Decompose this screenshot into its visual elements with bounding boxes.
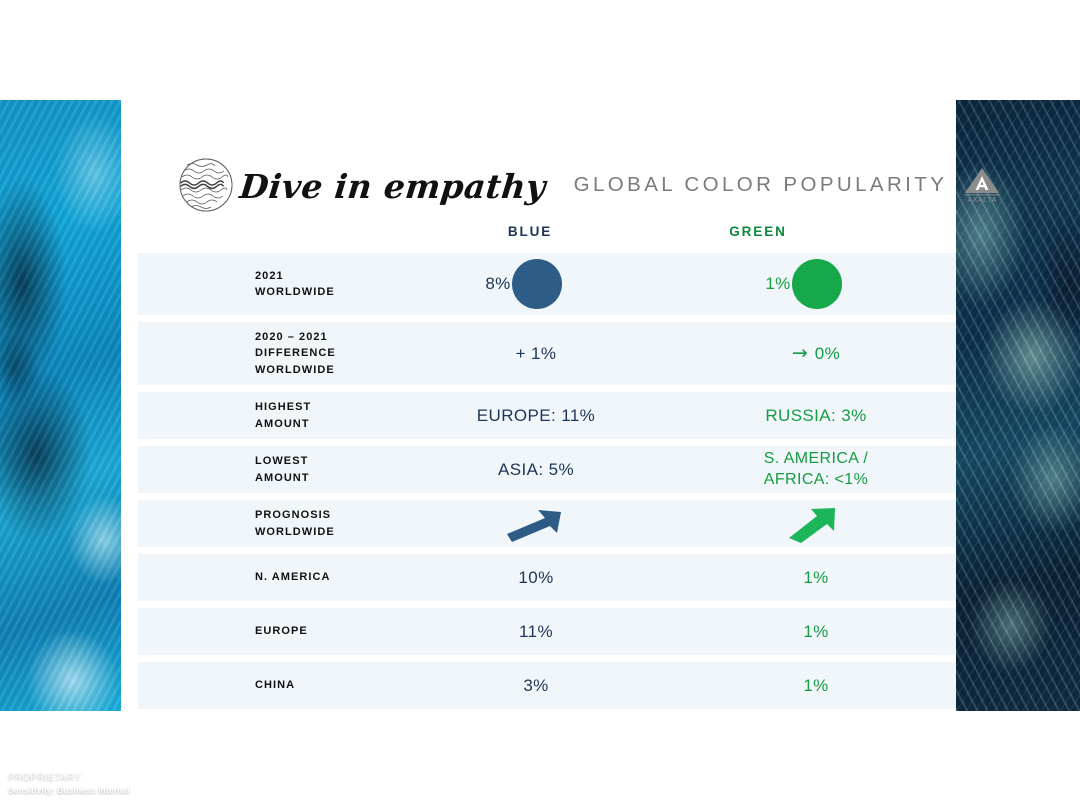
row-blue-value: ASIA: 5% — [498, 459, 574, 481]
blue-swatch-circle — [512, 259, 562, 309]
row-green-value: 0% — [815, 343, 840, 365]
row-blue-cell: + 1% — [396, 343, 676, 365]
row-label: HIGHEST AMOUNT — [138, 399, 396, 432]
row-green-cell: RUSSIA: 3% — [676, 405, 956, 427]
footer-classification: PROPRIETARY Sensitivity: Business Intern… — [8, 772, 130, 796]
table-row: N. AMERICA 10% 1% — [138, 554, 956, 601]
row-blue-cell: EUROPE: 11% — [396, 405, 676, 427]
row-green-value: 1% — [803, 675, 828, 697]
row-green-value: S. AMERICA / AFRICA: <1% — [764, 449, 868, 490]
green-swatch-circle — [792, 259, 842, 309]
row-blue-value: + 1% — [516, 343, 557, 365]
row-green-cell: 1% — [676, 273, 956, 295]
row-blue-cell: 10% — [396, 567, 676, 589]
row-label: 2020 – 2021 DIFFERENCE WORLDWIDE — [138, 329, 396, 379]
row-green-value: 1% — [803, 621, 828, 643]
row-label: CHINA — [138, 677, 396, 694]
row-label: EUROPE — [138, 623, 396, 640]
row-green-value: 1% — [803, 567, 828, 589]
column-header-green: GREEN — [688, 224, 828, 239]
row-green-value: 1% — [765, 273, 790, 295]
row-blue-cell: ASIA: 5% — [396, 459, 676, 481]
table-row: PROGNOSIS WORLDWIDE — [138, 500, 956, 547]
column-headers: BLUE GREEN — [138, 224, 956, 250]
table-row: LOWEST AMOUNT ASIA: 5% S. AMERICA / AFRI… — [138, 446, 956, 493]
row-green-value: RUSSIA: 3% — [765, 405, 866, 427]
arrow-right-icon: → — [792, 344, 808, 363]
table-row: EUROPE 11% 1% — [138, 608, 956, 655]
row-blue-cell: 11% — [396, 621, 676, 643]
row-blue-value: 3% — [523, 675, 548, 697]
row-label: N. AMERICA — [138, 569, 396, 586]
sensitivity-label: Sensitivity: Business Internal — [8, 785, 130, 796]
svg-text:AXALTA: AXALTA — [968, 195, 998, 204]
proprietary-label: PROPRIETARY — [8, 772, 130, 785]
row-green-cell: S. AMERICA / AFRICA: <1% — [676, 449, 956, 490]
row-label: 2021 WORLDWIDE — [138, 268, 396, 301]
slide-canvas: PROPRIETARY Sensitivity: Business Intern… — [0, 0, 1080, 810]
row-blue-value: EUROPE: 11% — [477, 405, 595, 427]
script-title: Dive in empathy — [238, 167, 548, 206]
wave-circle-icon — [178, 157, 234, 213]
row-blue-cell: 8% — [396, 273, 676, 295]
table-row: 2021 WORLDWIDE 8% 1% — [138, 253, 956, 315]
page-subtitle: GLOBAL COLOR POPULARITY — [574, 173, 948, 197]
popularity-table: 2021 WORLDWIDE 8% 1% 2020 – 2021 DIFFERE… — [138, 253, 956, 716]
row-green-cell: 1% — [676, 621, 956, 643]
row-green-cell: 1% — [676, 567, 956, 589]
row-blue-value: 8% — [485, 273, 510, 295]
table-row: HIGHEST AMOUNT EUROPE: 11% RUSSIA: 3% — [138, 392, 956, 439]
left-ocean-image — [0, 100, 121, 711]
table-row: CHINA 3% 1% — [138, 662, 956, 709]
arrow-up-right-navy-icon — [505, 504, 567, 544]
axalta-logo: AXALTA — [961, 166, 1003, 204]
column-header-blue: BLUE — [460, 224, 600, 239]
arrow-up-right-green-icon — [785, 504, 847, 544]
row-label: LOWEST AMOUNT — [138, 453, 396, 486]
table-row: 2020 – 2021 DIFFERENCE WORLDWIDE + 1% → … — [138, 322, 956, 385]
row-green-cell: 1% — [676, 675, 956, 697]
slide-header: Dive in empathy GLOBAL COLOR POPULARITY … — [178, 157, 1003, 213]
row-blue-cell — [396, 504, 676, 544]
row-blue-value: 10% — [518, 567, 553, 589]
row-blue-cell: 3% — [396, 675, 676, 697]
row-blue-value: 11% — [519, 621, 553, 643]
left-ocean-image-layer — [0, 100, 121, 711]
row-green-cell — [676, 504, 956, 544]
row-green-cell: → 0% — [676, 343, 956, 365]
row-label: PROGNOSIS WORLDWIDE — [138, 507, 396, 540]
